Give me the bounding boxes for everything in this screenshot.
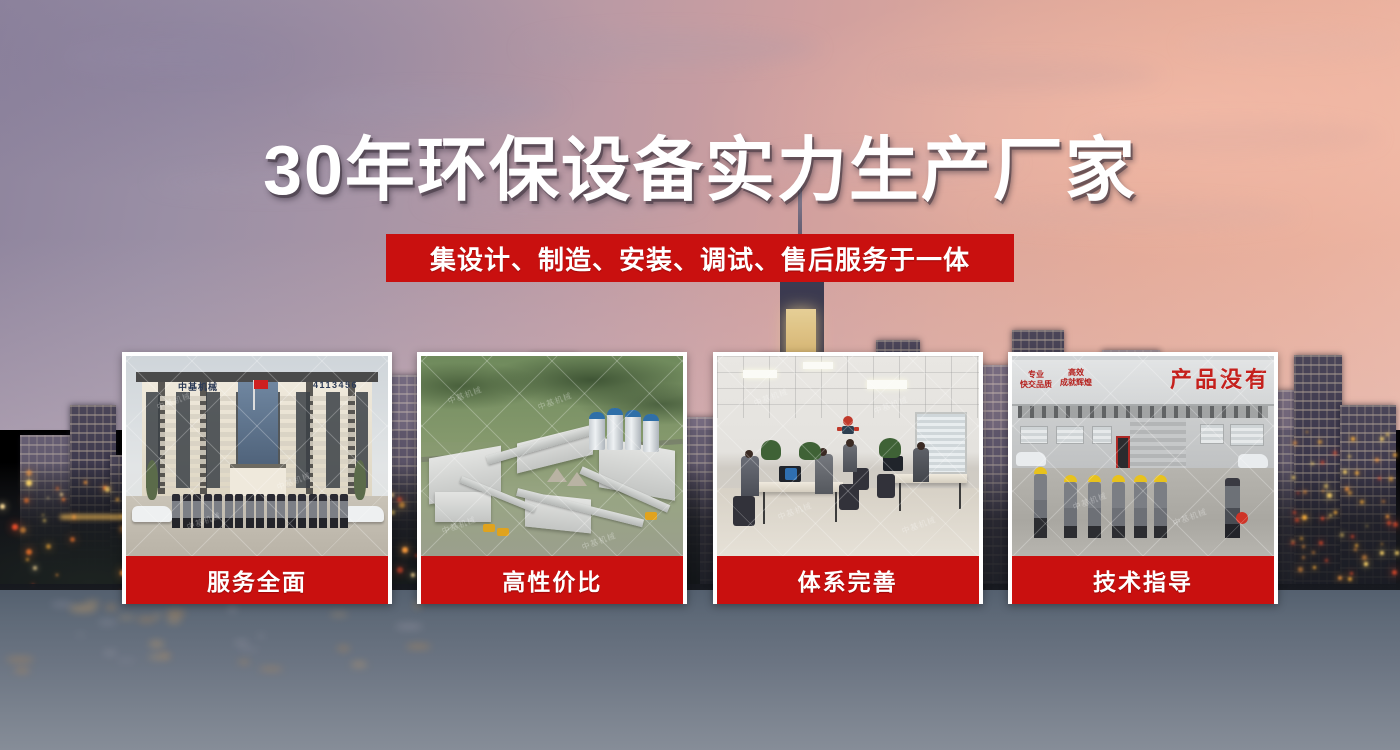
card-caption: 服务全面	[126, 556, 388, 604]
card-photo: 中基机械 中基机械 中基机械 中基机械	[717, 356, 979, 556]
card-caption: 高性价比	[421, 556, 683, 604]
promo-banner: 30年环保设备实力生产厂家 集设计、制造、安装、调试、售后服务于一体 中基机械	[0, 0, 1400, 750]
card-photo: 产品没有 专业快交品质 高效成就辉煌 中基机械 中基机械	[1012, 356, 1274, 556]
factory-slogan-2: 高效成就辉煌	[1060, 368, 1092, 388]
company-sign-text: 中基机械	[178, 380, 218, 393]
instructor-figure	[1225, 478, 1240, 538]
company-phone-text: 4113456	[313, 380, 358, 390]
river-water	[0, 590, 1400, 750]
card-photo: 中基机械 4113456 中基机械 中基机械 中基机械	[126, 356, 388, 556]
feature-card[interactable]: 产品没有 专业快交品质 高效成就辉煌 中基机械 中基机械	[1008, 352, 1278, 604]
factory-slogan-1: 专业快交品质	[1020, 370, 1052, 390]
feature-card-row: 中基机械 4113456 中基机械 中基机械 中基机械 服务全面	[122, 352, 1278, 604]
feature-card[interactable]: 中基机械 中基机械 中基机械 中基机械 高性价比	[417, 352, 687, 604]
subtitle-text: 集设计、制造、安装、调试、售后服务于一体	[430, 240, 970, 277]
card-caption: 技术指导	[1012, 556, 1274, 604]
feature-card[interactable]: 中基机械 中基机械 中基机械 中基机械 体系完善	[713, 352, 983, 604]
headline-title: 30年环保设备实力生产厂家	[0, 135, 1400, 205]
factory-wall-slogan: 产品没有	[1170, 362, 1270, 394]
card-caption: 体系完善	[717, 556, 979, 604]
feature-card[interactable]: 中基机械 4113456 中基机械 中基机械 中基机械 服务全面	[122, 352, 392, 604]
wall-emblem	[833, 412, 863, 438]
subtitle-bar: 集设计、制造、安装、调试、售后服务于一体	[386, 234, 1014, 282]
card-photo: 中基机械 中基机械 中基机械 中基机械	[421, 356, 683, 556]
